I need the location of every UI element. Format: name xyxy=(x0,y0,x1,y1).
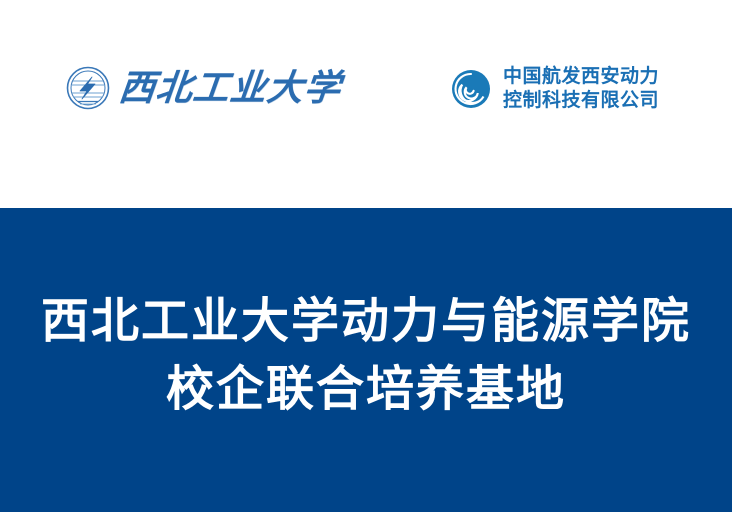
company-name-line-1: 中国航发西安动力 xyxy=(503,66,659,88)
company-name-line-2: 控制科技有限公司 xyxy=(503,90,659,112)
aecc-spiral-emblem xyxy=(450,68,492,110)
company-logo: 中国航发西安动力 控制科技有限公司 xyxy=(450,66,659,112)
banner-root: 西北工业大学 中国航发西安动力 控制科技有限公司 西北工业大学动力与能源学院 校… xyxy=(0,0,732,512)
university-logo: 西北工业大学 xyxy=(66,66,341,110)
company-name-block: 中国航发西安动力 控制科技有限公司 xyxy=(503,66,659,112)
title-panel: 西北工业大学动力与能源学院 校企联合培养基地 xyxy=(0,208,732,512)
title-line-2: 校企联合培养基地 xyxy=(166,356,566,424)
nwpu-seal-emblem xyxy=(66,66,110,110)
university-name-calligraphy: 西北工业大学 xyxy=(117,70,343,106)
logo-header-band: 西北工业大学 中国航发西安动力 控制科技有限公司 xyxy=(0,0,732,208)
title-line-1: 西北工业大学动力与能源学院 xyxy=(41,288,691,356)
